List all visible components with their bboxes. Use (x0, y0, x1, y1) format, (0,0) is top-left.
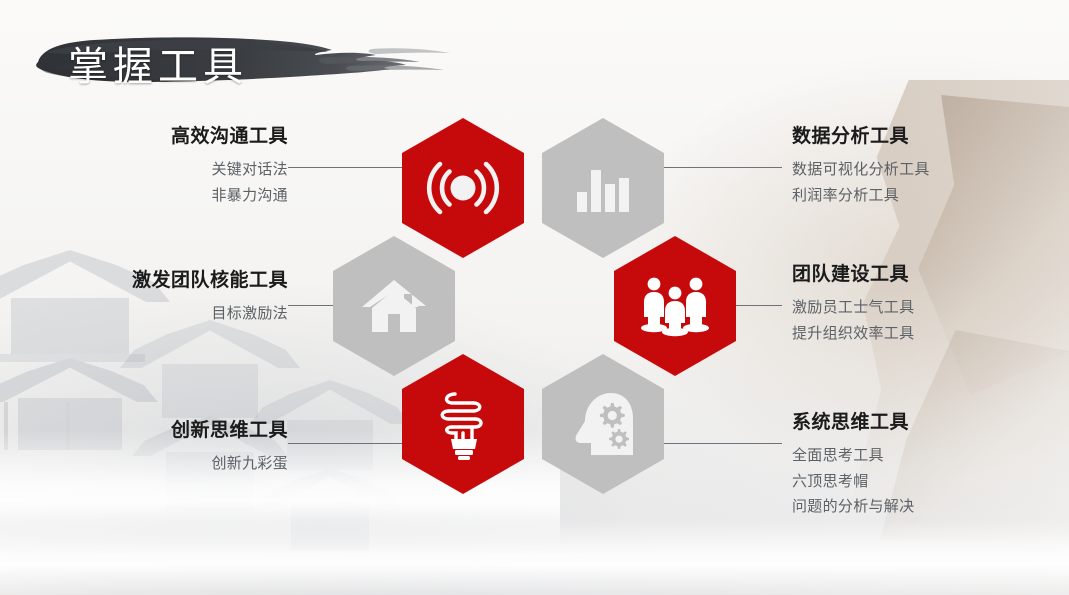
node-heading: 激发团队核能工具 (20, 270, 288, 292)
text-block-team-building: 团队建设工具 激励员工士气工具 提升组织效率工具 (792, 264, 1052, 346)
connector-systems-thinking (664, 443, 782, 444)
pagoda-center (120, 320, 300, 510)
connector-innovation (288, 443, 405, 444)
hex-node-team-energy[interactable] (333, 236, 455, 376)
people-group-icon (640, 275, 710, 337)
node-item: 提升组织效率工具 (792, 321, 1052, 347)
hex-node-data-analysis[interactable] (542, 118, 664, 258)
node-heading: 团队建设工具 (792, 264, 1052, 286)
text-block-team-energy: 激发团队核能工具 目标激励法 (20, 270, 288, 327)
node-item: 激励员工士气工具 (792, 295, 1052, 321)
lightbulb-icon (432, 386, 494, 462)
node-item: 全面思考工具 (792, 443, 1052, 469)
node-item: 数据可视化分析工具 (792, 157, 1052, 183)
slide-title-container: 掌握工具 (20, 22, 480, 94)
hex-node-communication[interactable] (402, 118, 524, 258)
node-item: 创新九彩蛋 (20, 451, 288, 477)
node-item: 利润率分析工具 (792, 183, 1052, 209)
node-item: 非暴力沟通 (20, 183, 288, 209)
text-block-innovation: 创新思维工具 创新九彩蛋 (20, 420, 288, 477)
text-block-systems-thinking: 系统思维工具 全面思考工具 六顶思考帽 问题的分析与解决 (792, 412, 1052, 520)
node-item: 关键对话法 (20, 157, 288, 183)
text-block-communication: 高效沟通工具 关键对话法 非暴力沟通 (20, 126, 288, 208)
hex-node-team-building[interactable] (614, 236, 736, 376)
hex-node-innovation[interactable] (402, 354, 524, 494)
broadcast-signal-icon (424, 155, 502, 221)
connector-team-building (736, 305, 782, 306)
bar-chart-icon (573, 158, 633, 218)
slide-canvas: 掌握工具 (0, 0, 1069, 595)
node-item: 目标激励法 (20, 301, 288, 327)
hex-node-systems-thinking[interactable] (542, 354, 664, 494)
head-gears-icon (567, 389, 639, 459)
node-item: 六顶思考帽 (792, 469, 1052, 495)
node-item: 问题的分析与解决 (792, 494, 1052, 520)
fog-band-lower (0, 520, 1069, 595)
connector-team-energy (288, 305, 335, 306)
node-heading: 高效沟通工具 (20, 126, 288, 148)
node-heading: 数据分析工具 (792, 126, 1052, 148)
node-heading: 系统思维工具 (792, 412, 1052, 434)
page-title: 掌握工具 (68, 34, 248, 92)
connector-communication (288, 167, 405, 168)
connector-data-analysis (664, 167, 782, 168)
house-icon (360, 276, 428, 336)
text-block-data-analysis: 数据分析工具 数据可视化分析工具 利润率分析工具 (792, 126, 1052, 208)
node-heading: 创新思维工具 (20, 420, 288, 442)
